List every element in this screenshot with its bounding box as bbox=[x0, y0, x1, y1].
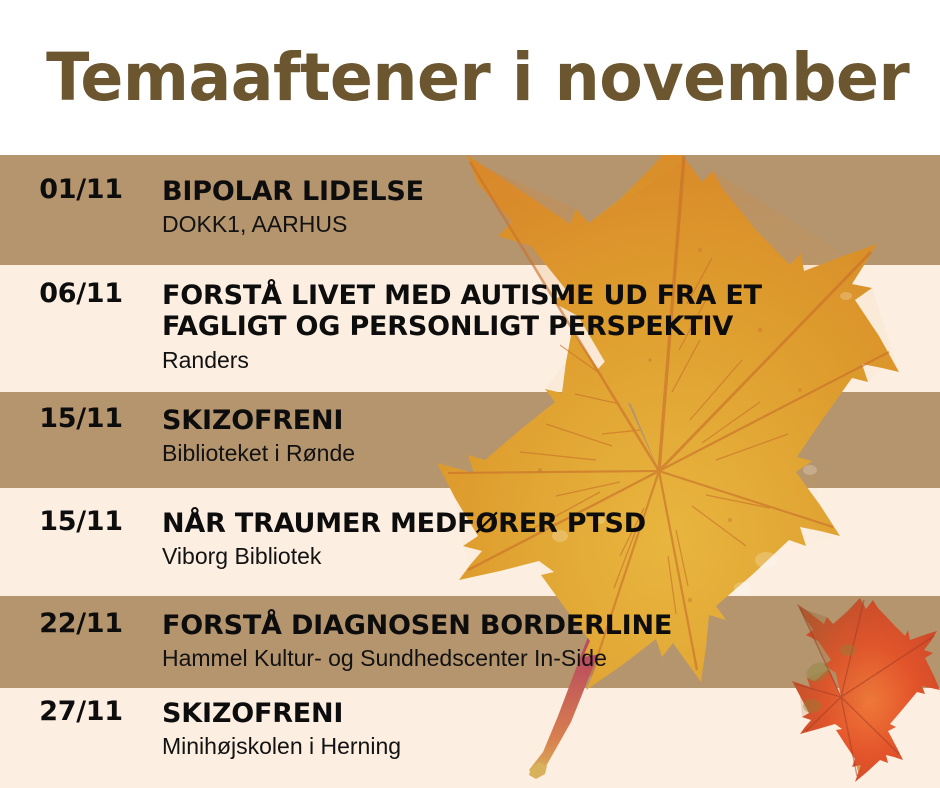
page-title: Temaaftener i november bbox=[0, 45, 909, 111]
band-row-6 bbox=[0, 688, 940, 788]
band-row-4 bbox=[0, 488, 940, 596]
band-row-3 bbox=[0, 392, 940, 488]
poster-header: Temaaftener i november bbox=[0, 0, 940, 155]
band-row-1 bbox=[0, 155, 940, 265]
poster-canvas: Temaaftener i november 01/11 BIPOLAR LID… bbox=[0, 0, 940, 788]
band-row-5 bbox=[0, 596, 940, 688]
band-row-2 bbox=[0, 265, 940, 392]
